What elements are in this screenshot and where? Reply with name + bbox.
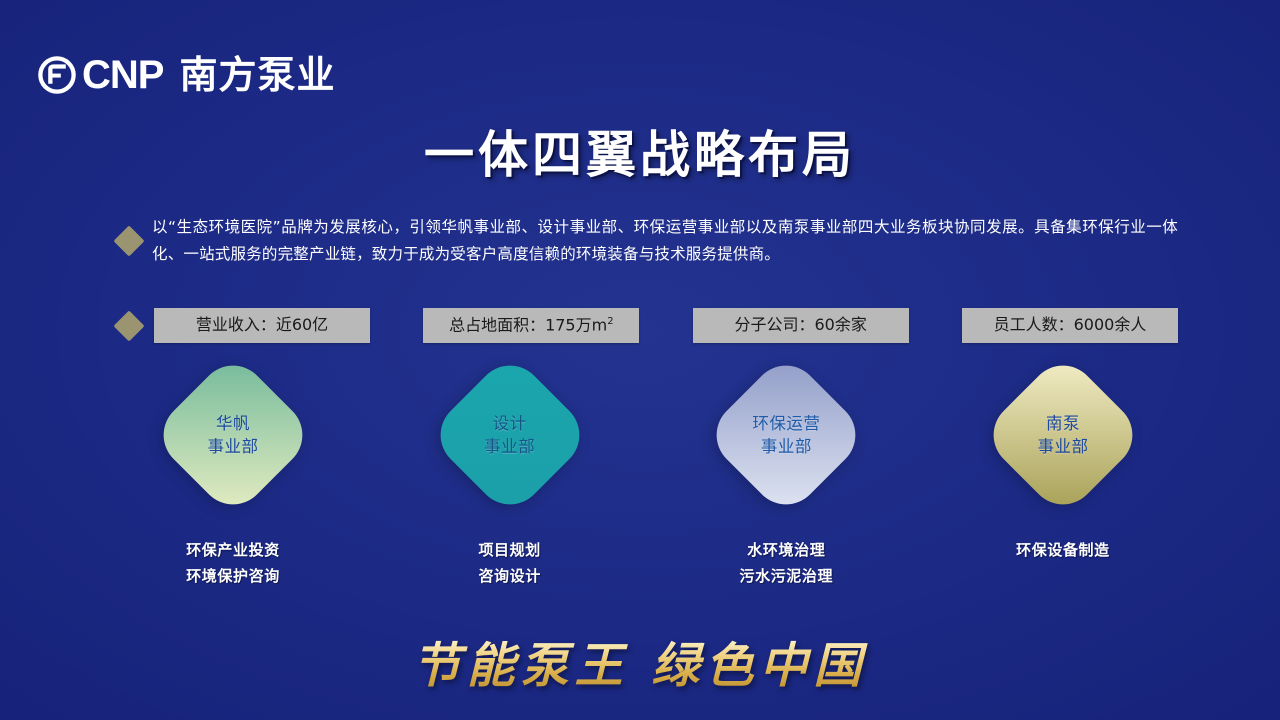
- stats-block: 营业收入：近60亿 总占地面积：175万m2 分子公司：60余家 员工人数：60…: [118, 308, 1178, 343]
- pillars-row: 华帆 事业部 环保产业投资 环境保护咨询 设计 事业部 项目规划 咨询设计: [118, 355, 1178, 590]
- pillar-shape-wrap: 南泵 事业部: [983, 355, 1143, 515]
- pillar-shape-wrap: 华帆 事业部: [153, 355, 313, 515]
- pillar-caption: 水环境治理 污水污泥治理: [740, 537, 834, 590]
- pillar-shape-label: 南泵 事业部: [1037, 412, 1088, 459]
- pillar-shape-label-line1: 华帆: [208, 412, 259, 435]
- stat-chip-label: 总占地面积：175万m: [449, 315, 607, 334]
- pillar-nanbeng: 南泵 事业部 环保设备制造: [948, 355, 1178, 563]
- diamond-bullet-icon: [113, 225, 144, 256]
- stat-chip: 员工人数：6000余人: [962, 308, 1178, 343]
- pillar-caption-line2: 咨询设计: [478, 563, 540, 589]
- pillar-shape-wrap: 环保运营 事业部: [706, 355, 866, 515]
- pillar-shape-label-line2: 事业部: [752, 435, 820, 458]
- cnp-monogram-icon: [38, 56, 76, 94]
- pillar-caption-line1: 项目规划: [478, 537, 540, 563]
- pillar-caption: 环保产业投资 环境保护咨询: [186, 537, 280, 590]
- pillar-caption-line1: 环保设备制造: [1016, 537, 1110, 563]
- pillar-sheji: 设计 事业部 项目规划 咨询设计: [395, 355, 625, 590]
- pillar-shape-label-line1: 南泵: [1037, 412, 1088, 435]
- pillar-caption-line2: 污水污泥治理: [740, 563, 834, 589]
- pillar-caption-line2: 环境保护咨询: [186, 563, 280, 589]
- intro-block: 以“生态环境医院”品牌为发展核心，引领华帆事业部、设计事业部、环保运营事业部以及…: [118, 214, 1178, 267]
- stat-chip-label: 员工人数：6000余人: [994, 315, 1147, 334]
- pillar-huafan: 华帆 事业部 环保产业投资 环境保护咨询: [118, 355, 348, 590]
- page-title: 一体四翼战略布局: [0, 128, 1280, 183]
- stat-chip-label: 分子公司：60余家: [734, 315, 866, 334]
- pillar-shape-label-line1: 设计: [484, 412, 535, 435]
- logo-latin-name: CNP: [82, 55, 163, 95]
- intro-paragraph: 以“生态环境医院”品牌为发展核心，引领华帆事业部、设计事业部、环保运营事业部以及…: [152, 214, 1178, 267]
- pillar-caption: 项目规划 咨询设计: [478, 537, 540, 590]
- pillar-caption-line1: 环保产业投资: [186, 537, 280, 563]
- pillar-caption: 环保设备制造: [1016, 537, 1110, 563]
- pillar-shape-wrap: 设计 事业部: [430, 355, 590, 515]
- pillar-shape-label: 设计 事业部: [484, 412, 535, 459]
- pillar-huanbaoyunying: 环保运营 事业部 水环境治理 污水污泥治理: [671, 355, 901, 590]
- pillar-shape-label: 华帆 事业部: [208, 412, 259, 459]
- pillar-shape-label-line1: 环保运营: [752, 412, 820, 435]
- stat-chip: 营业收入：近60亿: [154, 308, 370, 343]
- logo-chinese-name: 南方泵业: [179, 56, 335, 94]
- stat-chip-label: 营业收入：近60亿: [196, 315, 328, 334]
- slide-canvas: CNP 南方泵业 一体四翼战略布局 以“生态环境医院”品牌为发展核心，引领华帆事…: [0, 0, 1280, 720]
- company-logo: CNP 南方泵业: [38, 52, 335, 98]
- pillar-shape-label-line2: 事业部: [208, 435, 259, 458]
- stat-chip: 总占地面积：175万m2: [423, 308, 639, 343]
- stat-chip-superscript: 2: [607, 316, 613, 327]
- pillar-shape-label-line2: 事业部: [484, 435, 535, 458]
- stats-list: 营业收入：近60亿 总占地面积：175万m2 分子公司：60余家 员工人数：60…: [154, 308, 1178, 343]
- bottom-slogan: 节能泵王 绿色中国: [0, 638, 1280, 696]
- pillar-shape-label-line2: 事业部: [1037, 435, 1088, 458]
- diamond-bullet-icon: [113, 310, 144, 341]
- pillar-caption-line1: 水环境治理: [740, 537, 834, 563]
- pillar-shape-label: 环保运营 事业部: [752, 412, 820, 459]
- stat-chip: 分子公司：60余家: [693, 308, 909, 343]
